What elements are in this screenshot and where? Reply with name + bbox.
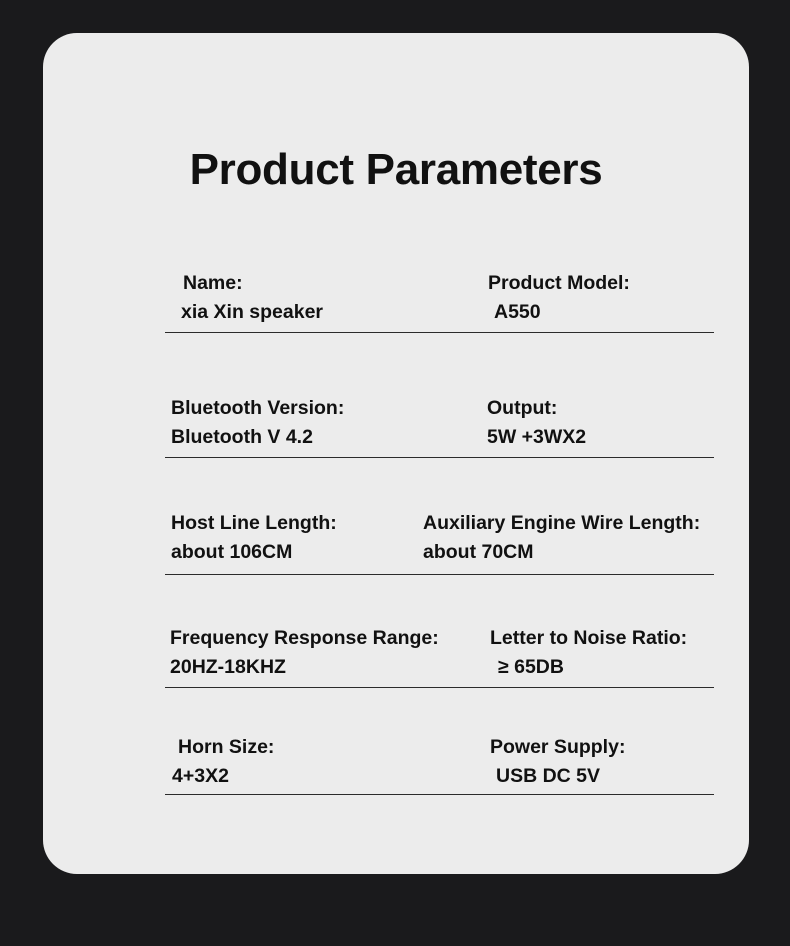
spec-value: about 106CM (171, 540, 337, 564)
row-divider (165, 794, 714, 795)
spec-cell-product-model: Product Model: A550 (488, 271, 630, 324)
spec-label: Host Line Length: (171, 511, 337, 535)
spec-cell-power-supply: Power Supply: USB DC 5V (490, 735, 625, 788)
spec-cell-output: Output: 5W +3WX2 (487, 396, 586, 449)
spec-value: xia Xin speaker (181, 300, 323, 324)
spec-cell-name: Name: xia Xin speaker (183, 271, 323, 324)
spec-cell-auxiliary-engine-wire-length: Auxiliary Engine Wire Length: about 70CM (423, 511, 700, 564)
spec-label: Product Model: (488, 271, 630, 295)
page-title: Product Parameters (43, 145, 749, 195)
spec-value: 20HZ-18KHZ (170, 655, 439, 679)
spec-label: Frequency Response Range: (170, 626, 439, 650)
spec-label: Power Supply: (490, 735, 625, 759)
spec-row: Host Line Length: about 106CM Auxiliary … (43, 511, 749, 581)
spec-value: ≥ 65DB (498, 655, 687, 679)
spec-row: Frequency Response Range: 20HZ-18KHZ Let… (43, 626, 749, 696)
row-divider (165, 457, 714, 458)
spec-cell-letter-to-noise-ratio: Letter to Noise Ratio: ≥ 65DB (490, 626, 687, 679)
spec-value: A550 (494, 300, 630, 324)
spec-value: 4+3X2 (172, 764, 274, 788)
row-divider (165, 332, 714, 333)
spec-row: Name: xia Xin speaker Product Model: A55… (43, 271, 749, 341)
spec-cell-bluetooth-version: Bluetooth Version: Bluetooth V 4.2 (171, 396, 344, 449)
product-parameters-card: Product Parameters Name: xia Xin speaker… (43, 33, 749, 874)
row-divider (165, 574, 714, 575)
spec-value: Bluetooth V 4.2 (171, 425, 344, 449)
spec-value: about 70CM (423, 540, 700, 564)
spec-cell-horn-size: Horn Size: 4+3X2 (178, 735, 274, 788)
spec-cell-frequency-response-range: Frequency Response Range: 20HZ-18KHZ (170, 626, 439, 679)
spec-label: Horn Size: (178, 735, 274, 759)
spec-cell-host-line-length: Host Line Length: about 106CM (171, 511, 337, 564)
spec-value: USB DC 5V (496, 764, 625, 788)
spec-label: Bluetooth Version: (171, 396, 344, 420)
spec-label: Auxiliary Engine Wire Length: (423, 511, 700, 535)
spec-value: 5W +3WX2 (487, 425, 586, 449)
spec-row: Bluetooth Version: Bluetooth V 4.2 Outpu… (43, 396, 749, 466)
spec-label: Letter to Noise Ratio: (490, 626, 687, 650)
row-divider (165, 687, 714, 688)
spec-label: Output: (487, 396, 586, 420)
spec-label: Name: (183, 271, 323, 295)
